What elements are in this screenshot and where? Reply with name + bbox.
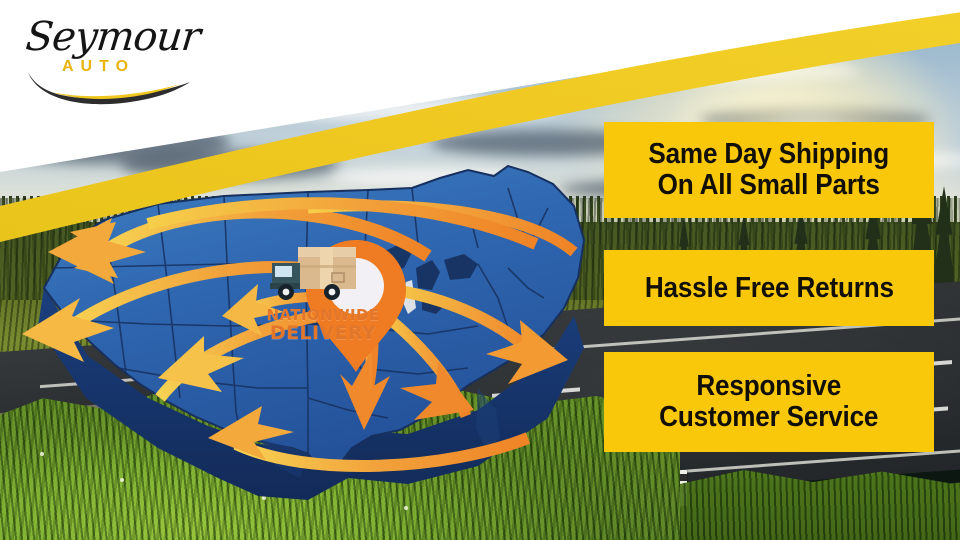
claim-box-hassle-free-returns[interactable]: Hassle Free Returns	[604, 250, 934, 326]
claim-text: Hassle Free Returns	[645, 273, 894, 304]
nationwide-delivery-badge: NATIONWIDE DELIVERY	[258, 308, 388, 344]
promo-banner: NATIONWIDE DELIVERY Seymour AUTO Same	[0, 0, 960, 540]
claim-box-responsive-customer-service[interactable]: Responsive Customer Service	[604, 352, 934, 452]
logo-subtitle: AUTO	[62, 58, 135, 76]
badge-line-2: DELIVERY	[258, 324, 388, 344]
claim-text: Same Day Shipping On All Small Parts	[649, 139, 890, 200]
claim-text: Responsive Customer Service	[659, 371, 878, 432]
logo-wordmark: Seymour	[24, 14, 202, 60]
claim-box-same-day-shipping[interactable]: Same Day Shipping On All Small Parts	[604, 122, 934, 218]
brand-logo[interactable]: Seymour AUTO	[22, 14, 202, 98]
